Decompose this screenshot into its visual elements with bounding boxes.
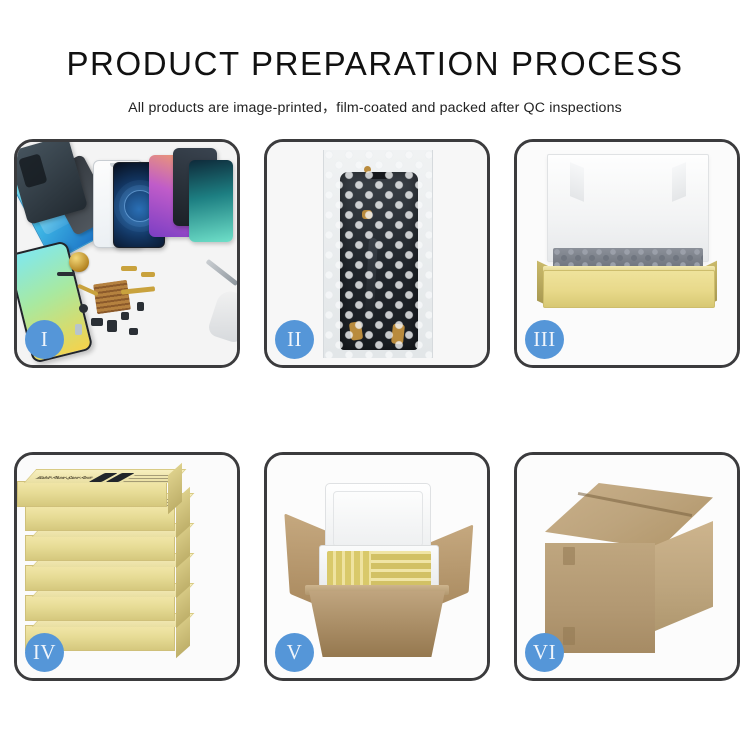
component-icon	[137, 302, 144, 311]
process-step-panel-5: V	[264, 452, 490, 681]
logic-board-icon	[93, 280, 131, 314]
flex-cable-icon	[141, 272, 155, 277]
page-subtitle: All products are image-printed，film-coat…	[0, 97, 750, 117]
step-badge-3: III	[525, 320, 564, 359]
product-preparation-process-page: PRODUCT PREPARATION PROCESS All products…	[0, 0, 750, 750]
step-badge-2: II	[275, 320, 314, 359]
carton-body-icon	[309, 591, 445, 657]
flex-cable-icon	[121, 266, 137, 271]
component-icon	[91, 318, 103, 326]
carton-front-icon	[545, 543, 655, 653]
process-step-panel-2: II	[264, 139, 490, 368]
page-header: PRODUCT PREPARATION PROCESS All products…	[0, 0, 750, 117]
box-lid-icon	[547, 154, 709, 262]
box-label-text: Mobile Phone Spare Parts	[33, 475, 97, 480]
coil-part-icon	[69, 252, 89, 272]
page-title: PRODUCT PREPARATION PROCESS	[0, 47, 750, 80]
carton-tab-icon	[563, 547, 575, 565]
inner-boxes-icon	[371, 551, 431, 587]
step-badge-5: V	[275, 633, 314, 672]
process-step-panel-6: VI	[514, 452, 740, 681]
bubble-bag-icon	[323, 150, 433, 358]
step-badge-4: IV	[25, 633, 64, 672]
component-icon	[121, 312, 129, 320]
carton-tab-icon	[563, 627, 575, 645]
teal-display-icon	[189, 160, 233, 242]
component-icon	[79, 304, 88, 313]
component-icon	[57, 272, 75, 276]
process-steps-grid: I II	[14, 139, 740, 681]
step-badge-6: VI	[525, 633, 564, 672]
process-step-panel-3: III	[514, 139, 740, 368]
component-icon	[107, 320, 117, 332]
box-label: Mobile Phone Spare Parts	[28, 472, 186, 483]
process-step-panel-1: I	[14, 139, 240, 368]
step-badge-1: I	[25, 320, 64, 359]
process-step-panel-4: Mobile Phone Spare Parts Mobile Phone Sp…	[14, 452, 240, 681]
component-icon	[75, 324, 82, 335]
yellow-box-icon	[543, 270, 715, 308]
component-icon	[129, 328, 138, 335]
